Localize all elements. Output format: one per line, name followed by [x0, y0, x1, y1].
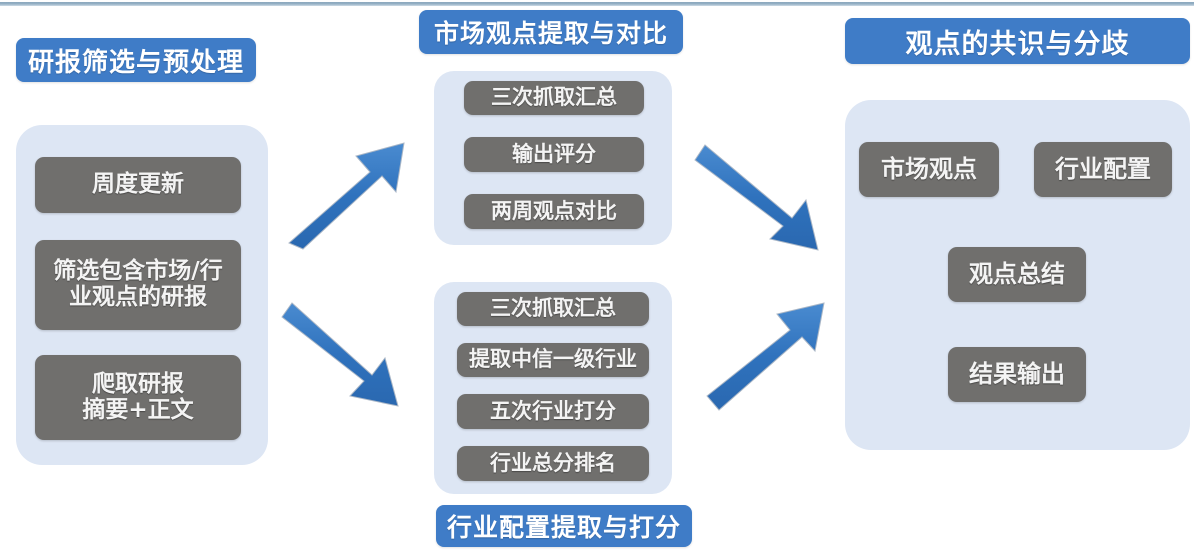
section-header-left[interactable]: 研报筛选与预处理 — [16, 38, 256, 82]
node-result-output[interactable]: 结果输出 — [948, 347, 1086, 402]
section-header-right[interactable]: 观点的共识与分歧 — [845, 18, 1190, 64]
block-arrow-middle-top-to-right — [695, 145, 818, 250]
node-market-view[interactable]: 市场观点 — [859, 142, 999, 197]
block-arrow-middle-bottom-to-right — [707, 303, 824, 410]
node-mb-three-extractions[interactable]: 三次抓取汇总 — [457, 292, 649, 326]
diagram-canvas: 研报筛选与预处理 周度更新 筛选包含市场/行 业观点的研报 爬取研报 摘要+正文… — [0, 0, 1194, 555]
node-weekly-update[interactable]: 周度更新 — [35, 157, 241, 213]
node-mb-five-industry-scores[interactable]: 五次行业打分 — [457, 394, 649, 429]
section-header-middle-top[interactable]: 市场观点提取与对比 — [419, 10, 683, 54]
node-filter-reports[interactable]: 筛选包含市场/行 业观点的研报 — [35, 240, 241, 330]
node-mb-industry-total-rank[interactable]: 行业总分排名 — [457, 446, 649, 481]
node-mt-output-score[interactable]: 输出评分 — [464, 137, 644, 172]
node-crawl-reports[interactable]: 爬取研报 摘要+正文 — [35, 355, 241, 440]
node-industry-allocation[interactable]: 行业配置 — [1034, 142, 1172, 197]
node-mt-three-extractions[interactable]: 三次抓取汇总 — [464, 81, 644, 115]
node-mb-extract-citic-industry[interactable]: 提取中信一级行业 — [457, 343, 649, 377]
section-header-middle-bottom[interactable]: 行业配置提取与打分 — [436, 505, 692, 547]
node-view-summary[interactable]: 观点总结 — [948, 247, 1086, 302]
block-arrow-left-to-middle-top — [289, 143, 404, 249]
top-divider-rule — [0, 2, 1194, 6]
block-arrow-left-to-middle-bottom — [282, 303, 398, 406]
node-mt-two-week-compare[interactable]: 两周观点对比 — [464, 194, 644, 229]
